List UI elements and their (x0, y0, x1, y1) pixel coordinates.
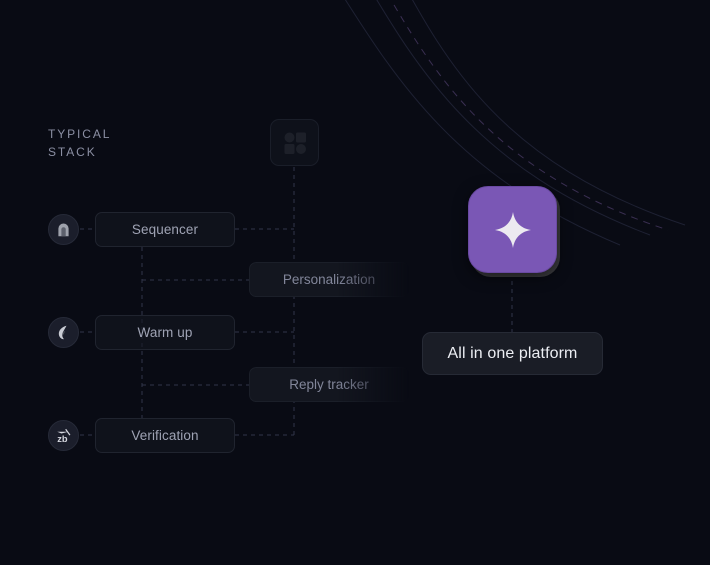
stack-box-label: Verification (131, 428, 198, 443)
stack-box-sequencer[interactable]: Sequencer (95, 212, 235, 247)
feature-box-reply-tracker[interactable]: Reply tracker (249, 367, 409, 402)
stack-box-label: Sequencer (132, 222, 198, 237)
section-label-line2: STACK (48, 143, 111, 161)
feature-box-label: Personalization (283, 272, 375, 287)
feature-box-personalization[interactable]: Personalization (249, 262, 409, 297)
diagram-canvas: TYPICAL STACK zb Sequencer (0, 0, 710, 565)
platform-card[interactable] (468, 186, 557, 273)
swirl-bird-icon (55, 324, 72, 341)
feature-box-label: Reply tracker (289, 377, 369, 392)
warmup-brand-icon[interactable] (48, 317, 79, 348)
svg-text:zb: zb (57, 433, 68, 443)
stack-box-warm-up[interactable]: Warm up (95, 315, 235, 350)
grid-card[interactable] (270, 119, 319, 166)
sparkle-star-icon (490, 207, 536, 253)
stack-box-label: Warm up (138, 325, 193, 340)
platform-pill[interactable]: All in one platform (422, 332, 603, 375)
sequencer-brand-icon[interactable] (48, 214, 79, 245)
stack-box-verification[interactable]: Verification (95, 418, 235, 453)
grid-four-shapes-icon (283, 131, 307, 155)
zb-logo-icon: zb (53, 427, 75, 445)
section-label-line1: TYPICAL (48, 125, 111, 143)
padlock-arch-icon (55, 221, 72, 238)
platform-pill-label: All in one platform (448, 345, 578, 363)
section-label: TYPICAL STACK (48, 125, 111, 161)
verification-brand-icon[interactable]: zb (48, 420, 79, 451)
